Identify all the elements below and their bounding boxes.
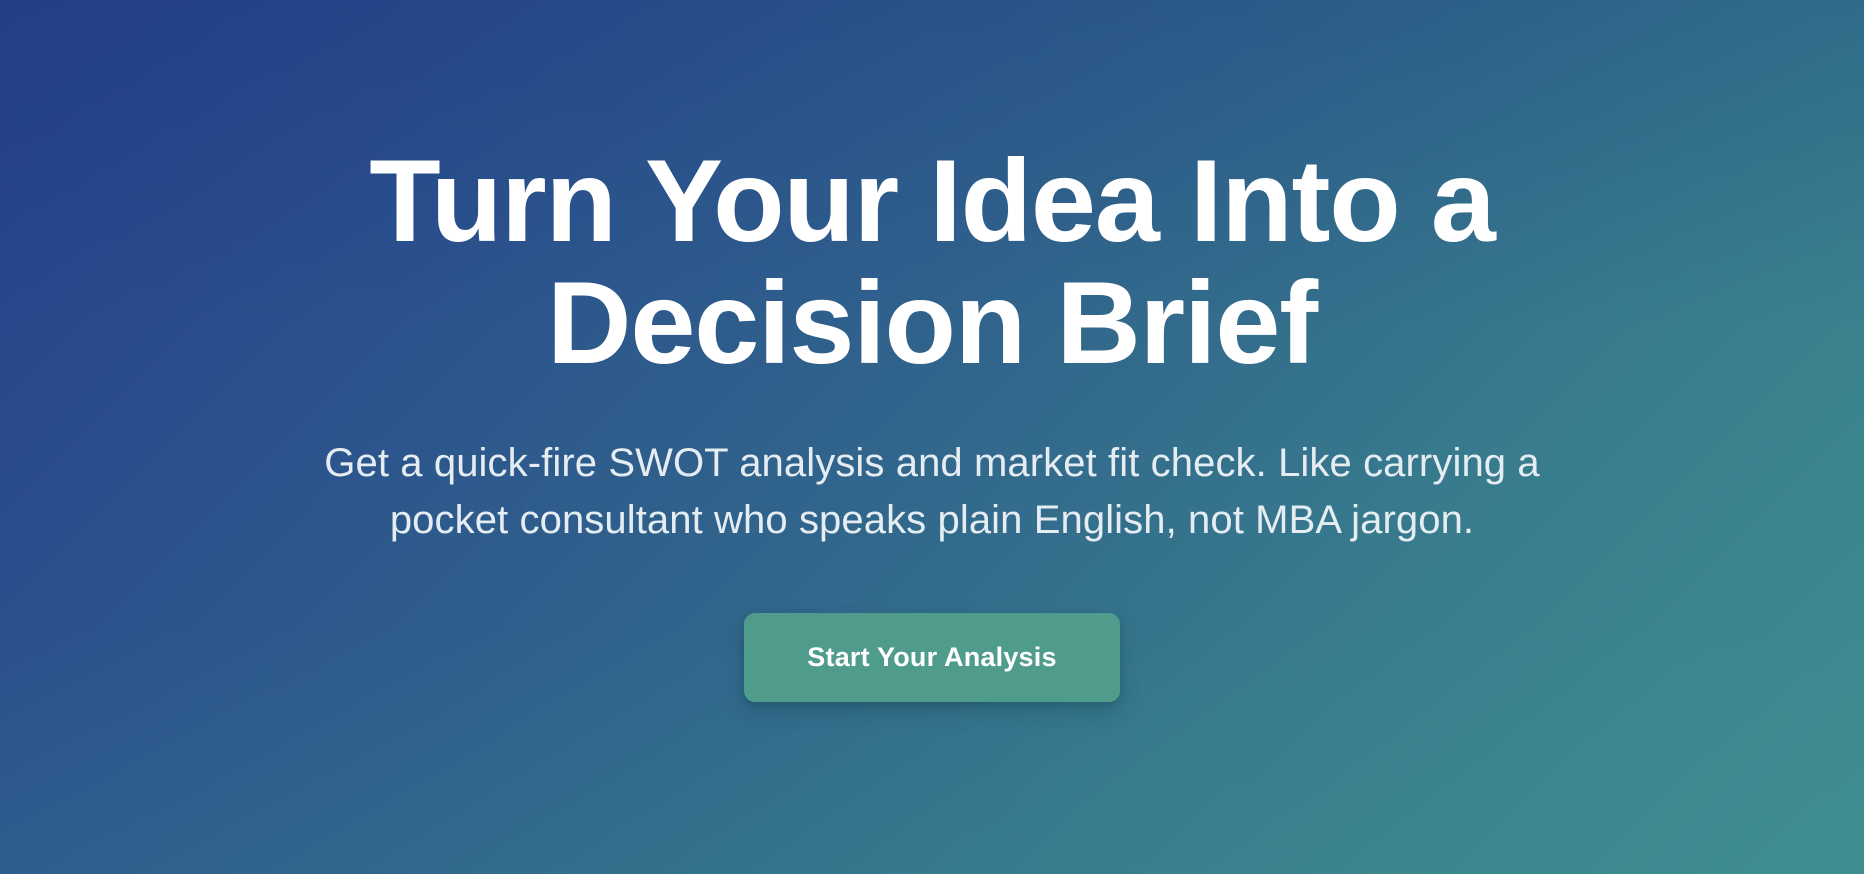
start-your-analysis-button[interactable]: Start Your Analysis: [744, 613, 1120, 702]
page-title: Turn Your Idea Into a Decision Brief: [232, 0, 1632, 383]
hero-subtitle: Get a quick-fire SWOT analysis and marke…: [262, 383, 1602, 549]
hero-cta-container: Start Your Analysis: [232, 549, 1632, 702]
hero-section: Turn Your Idea Into a Decision Brief Get…: [0, 0, 1864, 874]
hero-content: Turn Your Idea Into a Decision Brief Get…: [232, 0, 1632, 702]
